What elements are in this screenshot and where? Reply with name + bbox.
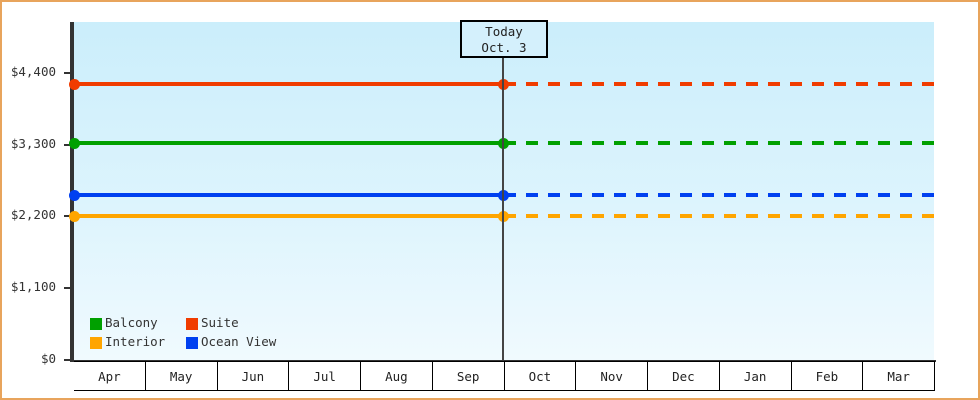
legend-row-2: Interior Ocean View	[90, 333, 276, 352]
legend-swatch-suite	[186, 318, 198, 330]
today-vertical-line	[502, 22, 504, 360]
legend-swatch-interior	[90, 337, 102, 349]
month-cell-apr[interactable]: Apr	[74, 362, 146, 390]
legend-swatch-ocean-view	[186, 337, 198, 349]
series-marker-suite-start	[69, 79, 80, 90]
legend-item-interior[interactable]: Interior	[90, 336, 186, 349]
legend-row-1: Balcony Suite	[90, 314, 276, 333]
legend-item-suite[interactable]: Suite	[186, 317, 239, 330]
series-line-interior	[74, 214, 504, 218]
series-line-suite	[74, 82, 504, 86]
legend-label-suite: Suite	[201, 317, 239, 330]
legend-label-ocean-view: Ocean View	[201, 336, 276, 349]
series-marker-interior-start	[69, 211, 80, 222]
month-cell-may[interactable]: May	[146, 362, 218, 390]
y-tick-label-2200: $2,200	[11, 209, 56, 222]
y-tick-0	[64, 359, 72, 361]
legend-label-interior: Interior	[105, 336, 165, 349]
x-axis-month-labels: Apr May Jun Jul Aug Sep Oct Nov Dec Jan …	[74, 361, 935, 391]
month-cell-aug[interactable]: Aug	[361, 362, 433, 390]
month-cell-jun[interactable]: Jun	[218, 362, 290, 390]
series-line-balcony	[74, 141, 504, 145]
y-tick-label-0: $0	[41, 353, 56, 366]
y-tick-label-3300: $3,300	[11, 138, 56, 151]
today-callout-line2: Oct. 3	[462, 40, 546, 56]
month-cell-feb[interactable]: Feb	[792, 362, 864, 390]
series-line-ocean-view	[74, 193, 504, 197]
y-tick-label-4400: $4,400	[11, 66, 56, 79]
month-cell-sep[interactable]: Sep	[433, 362, 505, 390]
legend: Balcony Suite Interior Ocean View	[90, 314, 276, 352]
y-tick-1100	[64, 287, 72, 289]
legend-label-balcony: Balcony	[105, 317, 158, 330]
y-tick-4400	[64, 72, 72, 74]
legend-item-ocean-view[interactable]: Ocean View	[186, 336, 276, 349]
month-cell-jul[interactable]: Jul	[289, 362, 361, 390]
series-line-suite-forecast	[504, 82, 934, 86]
chart-container: $4,400 $3,300 $2,200 $1,100 $0 Today Oct…	[0, 0, 980, 400]
legend-swatch-balcony	[90, 318, 102, 330]
month-cell-mar[interactable]: Mar	[863, 362, 934, 390]
series-marker-balcony-start	[69, 138, 80, 149]
series-marker-ocean-view-start	[69, 190, 80, 201]
month-cell-nov[interactable]: Nov	[576, 362, 648, 390]
series-line-balcony-forecast	[504, 141, 934, 145]
month-cell-jan[interactable]: Jan	[720, 362, 792, 390]
series-line-ocean-view-forecast	[504, 193, 934, 197]
today-callout: Today Oct. 3	[460, 20, 548, 58]
legend-item-balcony[interactable]: Balcony	[90, 317, 186, 330]
month-cell-oct[interactable]: Oct	[505, 362, 577, 390]
today-callout-line1: Today	[462, 24, 546, 40]
series-line-interior-forecast	[504, 214, 934, 218]
y-tick-label-1100: $1,100	[11, 281, 56, 294]
month-cell-dec[interactable]: Dec	[648, 362, 720, 390]
